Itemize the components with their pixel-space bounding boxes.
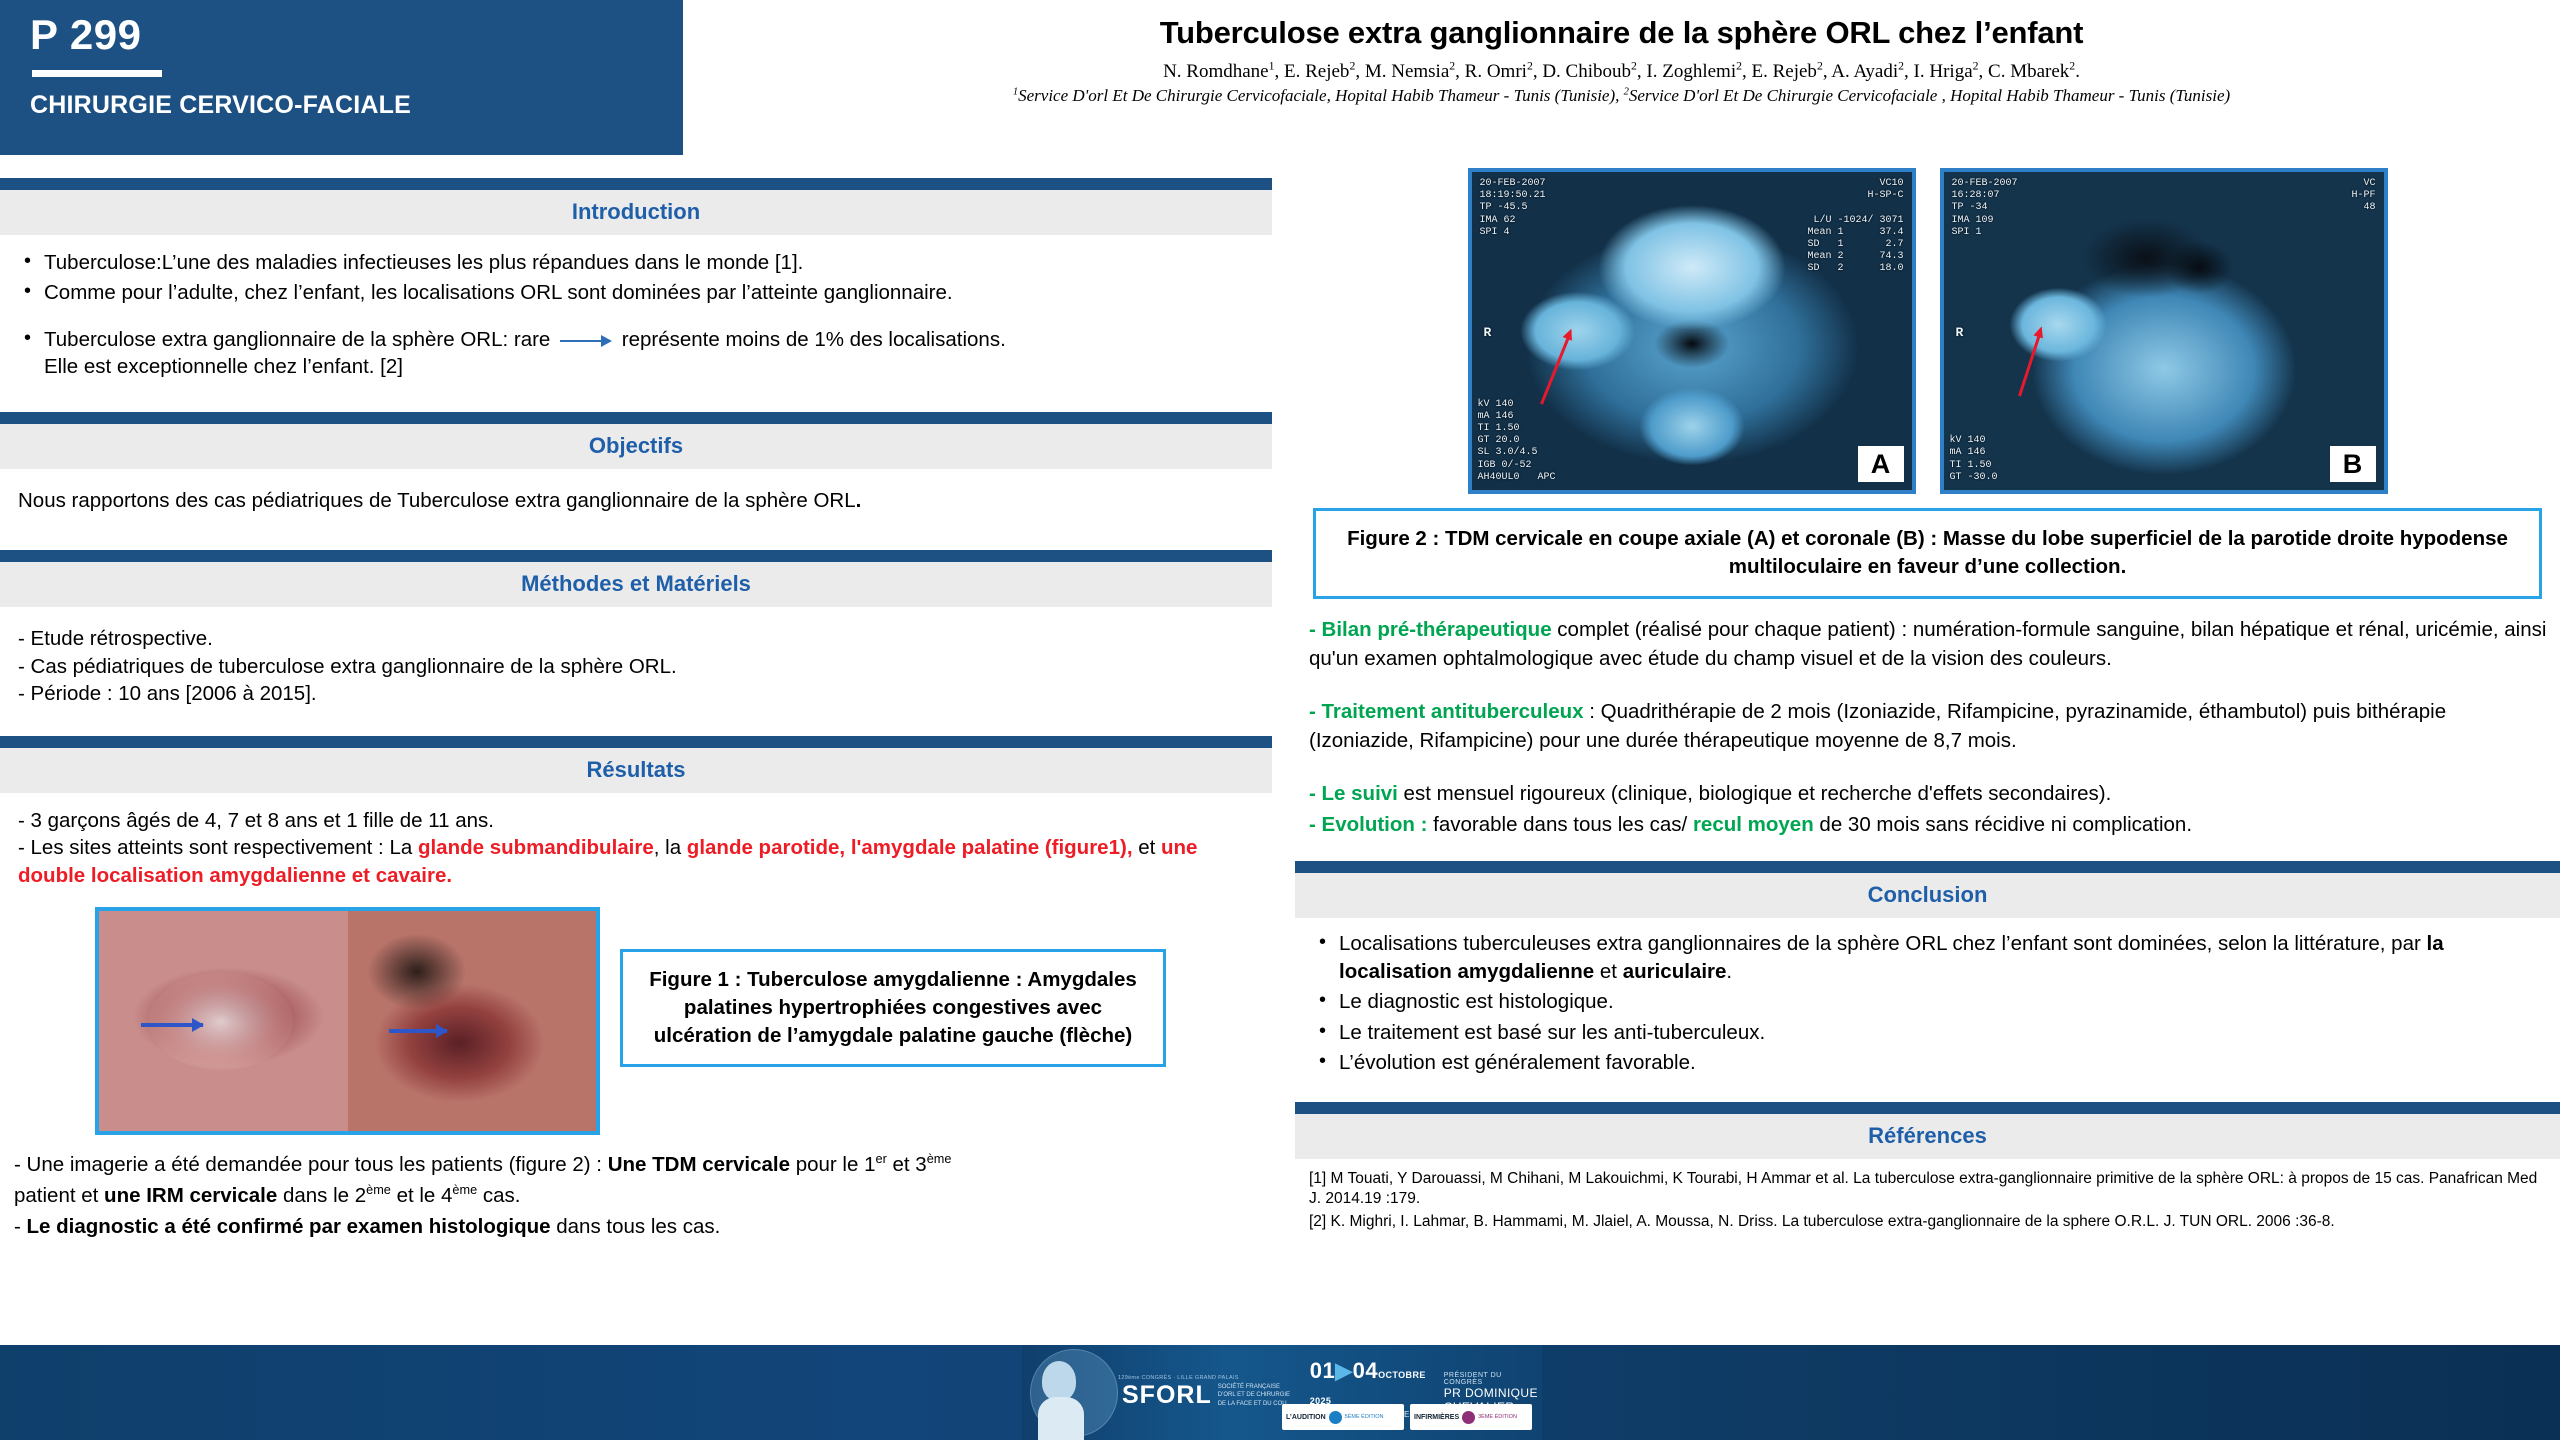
intro-exception-text: Elle est exceptionnelle chez l’enfant. [… (44, 355, 403, 378)
res-plain-1: - Les sites atteints sont respectivement… (18, 836, 418, 859)
right-arrow-icon (560, 334, 612, 348)
section-conclusion: Conclusion Localisations tuberculeuses e… (1295, 861, 2560, 1085)
suivi-label: - Le suivi (1309, 782, 1398, 805)
imaging-c: pour le 1 (790, 1153, 875, 1176)
spacer (1309, 757, 2550, 779)
reference-item: [1] M Touati, Y Darouassi, M Chihani, M … (1309, 1169, 2546, 1211)
imaging-g: et le 4 (391, 1184, 453, 1207)
date-range: 01▶04OCTOBRE 2025 (1310, 1358, 1426, 1410)
methode-line: - Période : 10 ans [2006 à 2015]. (18, 680, 1254, 707)
ct-a-overlay-top-left: 20-FEB-2007 18:19:50.21 TP -45.5 IMA 62 … (1480, 178, 1546, 239)
methode-line: - Etude rétrospective. (18, 625, 1254, 652)
objectifs-text: Nous rapportons des cas pédiatriques de … (18, 489, 856, 512)
ct-a-overlay-bottom-left: kV 140 mA 146 TI 1.50 GT 20.0 SL 3.0/4.5… (1478, 399, 1556, 484)
ct-b-overlay-bottom-left: kV 140 mA 146 TI 1.50 GT -30.0 (1950, 435, 1998, 484)
ct-a-label: A (1858, 446, 1904, 482)
section-heading-introduction: Introduction (0, 190, 1272, 235)
spacer (1309, 675, 2550, 697)
president-label: PRÉSIDENT DU CONGRÈS (1444, 1372, 1542, 1386)
footer-banner: 129ème CONGRÈS · LILLE GRAND PALAIS SFOR… (0, 1345, 2560, 1440)
list-item: Comme pour l’adulte, chez l’enfant, les … (18, 279, 1254, 306)
section-bar (1295, 1102, 2560, 1114)
figure1-right-photo (348, 911, 597, 1131)
imaging-line-2: patient et une IRM cervicale dans le 2èm… (14, 1182, 1258, 1211)
date-start: 01 (1310, 1358, 1335, 1383)
chip-audition-label: L’AUDITION (1286, 1414, 1326, 1421)
diag-c: dans tous les cas. (551, 1215, 721, 1238)
section-heading-conclusion: Conclusion (1295, 873, 2560, 918)
bilan-label: - Bilan pré-thérapeutique (1309, 618, 1552, 641)
chip-infirmieres: INFIRMIÈRES 3ÈME ÉDITION (1410, 1404, 1532, 1430)
res-plain-2: , la (654, 836, 687, 859)
treatment-block: - Bilan pré-thérapeutique complet (réali… (1295, 599, 2560, 840)
section-resultats: Résultats - 3 garçons âgés de 4, 7 et 8 … (0, 736, 1272, 1241)
poster-number-badge: P 299 CHIRURGIE CERVICO-FACIALE (0, 0, 683, 155)
authors-list: N. Romdhane1, E. Rejeb2, M. Nemsia2, R. … (713, 60, 2530, 84)
imaging-e: patient et (14, 1184, 104, 1207)
evolution-label: - Evolution : (1309, 813, 1427, 836)
sforl-profile-icon (1022, 1345, 1118, 1440)
resultats-line-2: - Les sites atteints sont respectivement… (18, 834, 1254, 889)
date-arrow-icon: ▶ (1335, 1358, 1352, 1383)
figure1-left-photo (99, 911, 348, 1131)
ct-b-overlay-top-left: 20-FEB-2007 16:28:07 TP -34 IMA 109 SPI … (1952, 178, 2018, 239)
evolution-text: de 30 mois sans récidive ni complication… (1814, 813, 2192, 836)
introduction-bullets-2: Tuberculose extra ganglionnaire de la sp… (18, 326, 1254, 381)
sforl-brand: SFORL (1122, 1381, 1212, 1410)
affiliations: 1Service D'orl Et De Chirurgie Cervicofa… (713, 86, 2530, 107)
resultats-imaging-text: - Une imagerie a été demandée pour tous … (0, 1145, 1272, 1241)
concl-e: . (1726, 960, 1732, 983)
chip-infirmieres-label: INFIRMIÈRES (1414, 1414, 1459, 1421)
poster-root: P 299 CHIRURGIE CERVICO-FACIALE Tubercul… (0, 0, 2560, 1440)
list-item: Le traitement est basé sur les anti-tube… (1313, 1019, 2542, 1046)
treatment-paragraph-1: - Bilan pré-thérapeutique complet (réali… (1309, 615, 2550, 673)
chip-infirmieres-edition: 3ÈME ÉDITION (1478, 1414, 1517, 1420)
ct-scan-axial: 20-FEB-2007 18:19:50.21 TP -45.5 IMA 62 … (1468, 168, 1916, 494)
figure2-caption: Figure 2 : TDM cervicale en coupe axiale… (1313, 508, 2542, 599)
imaging-sup-1: er (876, 1151, 887, 1166)
chip-infirmieres-icon (1462, 1411, 1475, 1424)
ct-scan-row: 20-FEB-2007 18:19:50.21 TP -45.5 IMA 62 … (1295, 168, 2560, 494)
ct-b-side-marker: R (1956, 325, 1964, 341)
diag-a: - (14, 1215, 27, 1238)
chip-audition: L’AUDITION 5ÈME ÉDITION (1282, 1404, 1404, 1430)
partner-chips: L’AUDITION 5ÈME ÉDITION INFIRMIÈRES 3ÈME… (1282, 1404, 1532, 1430)
spacer (18, 310, 1254, 326)
figure1-row: Figure 1 : Tuberculose amygdalienne : Am… (95, 907, 1272, 1135)
treatment-paragraph-3: - Le suivi est mensuel rigoureux (cliniq… (1309, 779, 2550, 808)
concl-d: auriculaire (1623, 960, 1727, 983)
ct-a-side-marker: R (1484, 325, 1492, 341)
imaging-irm: une IRM cervicale (104, 1184, 277, 1207)
section-heading-objectifs: Objectifs (0, 424, 1272, 469)
treatment-paragraph-4: - Evolution : favorable dans tous les ca… (1309, 810, 2550, 839)
resultats-body: - 3 garçons âgés de 4, 7 et 8 ans et 1 f… (0, 793, 1272, 895)
ct-scan-coronal: 20-FEB-2007 16:28:07 TP -34 IMA 109 SPI … (1940, 168, 2388, 494)
concl-c: et (1594, 960, 1623, 983)
list-item: Le diagnostic est histologique. (1313, 988, 2542, 1015)
diag-bold: Le diagnostic a été confirmé par examen … (27, 1215, 551, 1238)
date-end: 04 (1353, 1358, 1378, 1383)
section-heading-methodes: Méthodes et Matériels (0, 562, 1272, 607)
list-item: Tuberculose:L’une des maladies infectieu… (18, 249, 1254, 276)
imaging-line-3: - Le diagnostic a été confirmé par exame… (14, 1213, 1258, 1242)
imaging-f: dans le 2 (277, 1184, 366, 1207)
concl-a: Localisations tuberculeuses extra gangli… (1339, 932, 2427, 955)
imaging-tdm: Une TDM cervicale (608, 1153, 790, 1176)
imaging-h: cas. (477, 1184, 520, 1207)
imaging-sup-2: ème (927, 1151, 952, 1166)
traitement-label: - Traitement antituberculeux (1309, 700, 1584, 723)
methode-line: - Cas pédiatriques de tuberculose extra … (18, 653, 1254, 680)
poster-number: P 299 (30, 14, 683, 56)
treatment-paragraph-2: - Traitement antituberculeux : Quadrithé… (1309, 697, 2550, 755)
section-methodes: Méthodes et Matériels - Etude rétrospect… (0, 550, 1272, 713)
res-plain-3: et (1133, 836, 1162, 859)
header-main: Tuberculose extra ganglionnaire de la sp… (683, 0, 2560, 160)
section-references: Références [1] M Touati, Y Darouassi, M … (1295, 1102, 2560, 1233)
chip-audition-edition: 5ÈME ÉDITION (1345, 1414, 1384, 1420)
list-item: Tuberculose extra ganglionnaire de la sp… (18, 326, 1254, 381)
introduction-bullets: Tuberculose:L’une des maladies infectieu… (18, 249, 1254, 307)
objectifs-body: Nous rapportons des cas pédiatriques de … (0, 469, 1272, 530)
banner-circle-decoration (1030, 1349, 1118, 1437)
left-column: Introduction Tuberculose:L’une des malad… (0, 178, 1272, 1247)
section-bar (0, 550, 1272, 562)
right-column: 20-FEB-2007 18:19:50.21 TP -45.5 IMA 62 … (1295, 168, 2560, 1239)
references-body: [1] M Touati, Y Darouassi, M Chihani, M … (1295, 1159, 2560, 1233)
specialty-label: CHIRURGIE CERVICO-FACIALE (30, 91, 683, 120)
intro-rare-text: Tuberculose extra ganglionnaire de la sp… (44, 328, 550, 351)
list-item: Localisations tuberculeuses extra gangli… (1313, 930, 2542, 985)
section-bar (0, 412, 1272, 424)
imaging-d: et 3 (887, 1153, 927, 1176)
evolution-mid: favorable dans tous les cas/ (1427, 813, 1693, 836)
conclusion-body: Localisations tuberculeuses extra gangli… (1295, 918, 2560, 1085)
recul-label: recul moyen (1693, 813, 1814, 836)
methodes-body: - Etude rétrospective. - Cas pédiatrique… (0, 607, 1272, 713)
badge-divider (32, 70, 162, 77)
ct-b-overlay-top-right: VC H-PF 48 (2351, 178, 2375, 215)
introduction-body: Tuberculose:L’une des maladies infectieu… (0, 235, 1272, 390)
section-bar (1295, 861, 2560, 873)
intro-percent-text: représente moins de 1% des localisations… (622, 328, 1006, 351)
section-introduction: Introduction Tuberculose:L’une des malad… (0, 178, 1272, 390)
imaging-sup-4: ème (452, 1182, 477, 1197)
section-bar (0, 736, 1272, 748)
list-item: L’évolution est généralement favorable. (1313, 1049, 2542, 1076)
figure1-arrow-right-icon (389, 1029, 447, 1033)
suivi-text: est mensuel rigoureux (clinique, biologi… (1398, 782, 2111, 805)
resultats-line-1: - 3 garçons âgés de 4, 7 et 8 ans et 1 f… (18, 807, 1254, 834)
conclusion-bullets: Localisations tuberculeuses extra gangli… (1313, 930, 2542, 1076)
section-bar (0, 178, 1272, 190)
sforl-logo-block: 129ème CONGRÈS · LILLE GRAND PALAIS SFOR… (1118, 1375, 1294, 1410)
page-title: Tuberculose extra ganglionnaire de la sp… (713, 16, 2530, 51)
figure1-arrow-left-icon (141, 1023, 203, 1027)
congress-banner: 129ème CONGRÈS · LILLE GRAND PALAIS SFOR… (1022, 1345, 1542, 1440)
section-objectifs: Objectifs Nous rapportons des cas pédiat… (0, 412, 1272, 530)
figure1-caption: Figure 1 : Tuberculose amygdalienne : Am… (620, 949, 1166, 1067)
figure1-image (95, 907, 600, 1135)
section-heading-resultats: Résultats (0, 748, 1272, 793)
ct-b-label: B (2330, 446, 2376, 482)
imaging-a: - Une imagerie a été demandée pour tous … (14, 1153, 608, 1176)
reference-item: [2] K. Mighri, I. Lahmar, B. Hammami, M.… (1309, 1212, 2546, 1233)
ct-a-overlay-top-right: VC10 H-SP-C L/U -1024/ 3071 Mean 1 37.4 … (1807, 178, 1903, 276)
imaging-sup-3: ème (366, 1182, 391, 1197)
objectifs-period: . (856, 489, 862, 512)
chip-audition-icon (1329, 1411, 1342, 1424)
res-red-2: glande parotide, l'amygdale palatine (fi… (687, 836, 1133, 859)
res-red-1: glande submandibulaire (418, 836, 654, 859)
imaging-line-1: - Une imagerie a été demandée pour tous … (14, 1151, 1258, 1180)
section-heading-references: Références (1295, 1114, 2560, 1159)
